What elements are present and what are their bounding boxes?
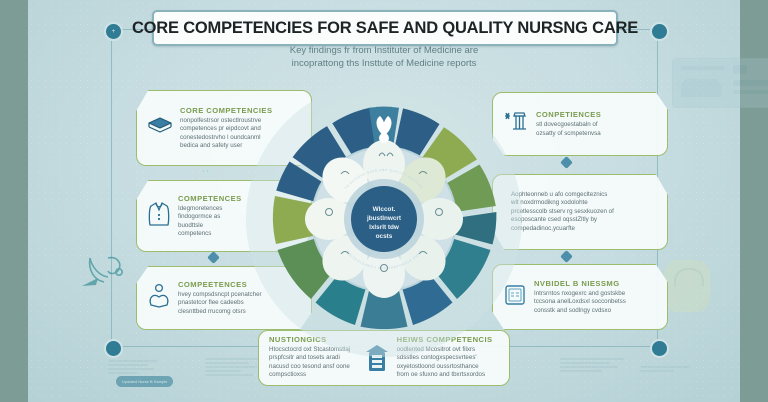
card-right-2-line-4: esoposcante csed oqsstZltly by: [511, 216, 657, 224]
footer-pill: Updated Nurse B Sample: [116, 376, 173, 387]
corner-node-top-left: +: [104, 22, 123, 41]
card-right-1-heading: CONPETIENCES: [536, 110, 657, 119]
card-bottom-1-line-4: compsctioxss: [269, 371, 357, 379]
competency-wheel-svg: TO ACHIEVE SAFE AND QUALITY NURSING CARE…: [243, 78, 525, 360]
card-bottom-1-line-3: nacusd coo tesond ansf oone: [269, 363, 357, 371]
card-right-2-body: Aophteonneb u afo comgeclteznics wlt nox…: [503, 191, 657, 233]
card-right-3-line-3: consstk and sodlngy cvdsxo: [534, 307, 657, 315]
id-card-watermark: [672, 58, 768, 108]
card-right-3-line-1: Intrsrntos nxogexrc and gostskbe: [534, 290, 657, 298]
footer-watermark-mid: [205, 358, 265, 378]
hub-line-2: jbustlnwcrt: [366, 215, 402, 222]
infographic-poster: + Updated Nurse B Sample CORE COMPETENCI: [0, 0, 768, 402]
card-right-3-line-2: tccsona anelLoxdsxl socconbetss: [534, 298, 657, 306]
subtitle-line-1: Key findings fr from Instituter of Medic…: [290, 45, 479, 56]
card-left-2-diamond: [207, 251, 220, 264]
card-right-1-line-1: stl dovecgoestabaln of: [536, 121, 657, 129]
left-margin-band: [0, 0, 28, 402]
corner-node-bottom-left: [104, 339, 123, 358]
shield-badge-watermark: [664, 260, 710, 312]
corner-node-bottom-right: [650, 339, 669, 358]
card-right-3-body: NVBIDEL B NIESSMG Intrsrntos nxogexrc an…: [534, 279, 657, 315]
guide-line-left: [111, 30, 112, 346]
title-banner: CORE COMPETENCIES FOR SAFE AND QUALITY N…: [152, 10, 618, 46]
card-right-2-line-1: Aophteonneb u afo comgeclteznics: [511, 191, 657, 199]
nurse-uniform-icon: [147, 200, 171, 233]
corner-node-top-right: [650, 22, 669, 41]
subtitle-line-2: incoprattong ths Insttute of Medicine re…: [180, 57, 588, 70]
node-glyph: +: [112, 29, 116, 35]
patient-heart-icon: [147, 283, 171, 314]
card-left-1-dots: ··: [202, 168, 211, 175]
stethoscope-icon: [78, 252, 128, 296]
subtitle: Key findings fr from Instituter of Medic…: [180, 44, 588, 70]
hub-line-4: ocsts: [376, 233, 393, 240]
card-bottom-2-line-3: oxyetostloond oussrtosthance: [397, 363, 499, 371]
open-book-icon: [147, 115, 173, 142]
card-right-1-diamond: [560, 156, 573, 169]
competency-wheel[interactable]: TO ACHIEVE SAFE AND QUALITY NURSING CARE…: [243, 78, 525, 360]
card-right-1-body: CONPETIENCES stl dovecgoestabaln of ozsa…: [536, 110, 657, 138]
card-right-2-diamond: [560, 250, 573, 263]
footer-watermark-far-right: [640, 366, 692, 374]
card-right-1-line-2: ozsatty of scmpetenvsa: [536, 130, 657, 138]
hub-line-1: Wlccot.: [373, 206, 396, 213]
card-right-2-line-5: compedadinoc,ycuarfte: [511, 225, 657, 233]
card-right-2-line-2: wlt noxdrmodikng xodolohte: [511, 199, 657, 207]
card-right-3-heading: NVBIDEL B NIESSMG: [534, 279, 657, 288]
footer-watermark-left: [108, 360, 160, 376]
card-bottom-2-line-4: from oe sfuxno and tbxrtsxordos: [397, 371, 499, 379]
footer-watermark-right: [560, 358, 626, 374]
page-title: CORE COMPETENCIES FOR SAFE AND QUALITY N…: [132, 19, 638, 38]
card-right-2-line-3: prcetlesscolb stserv rg sesxkuozen of: [511, 208, 657, 216]
hub-line-3: Ixlsrlt tdw: [369, 224, 399, 231]
